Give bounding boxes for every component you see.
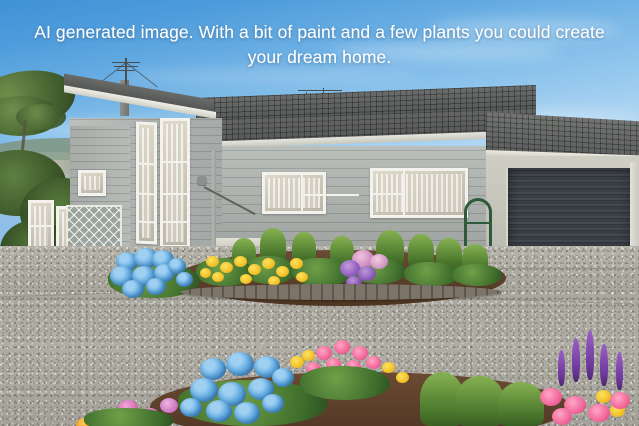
- hydrangea-bloom: [200, 358, 226, 380]
- driveway-seam: [480, 268, 639, 269]
- window-lounge: [262, 172, 326, 214]
- salvia-spike: [616, 352, 623, 390]
- daylily-bloom: [296, 272, 308, 282]
- daylily-bloom: [212, 272, 224, 282]
- pink-flower: [610, 392, 630, 409]
- hydrangea-bloom: [262, 394, 284, 413]
- salvia-spike: [572, 338, 580, 382]
- daylily-bloom: [220, 262, 233, 273]
- hydrangea-bloom: [206, 400, 232, 422]
- hydrangea-bloom: [226, 352, 254, 376]
- pink-flower: [366, 356, 381, 369]
- window-curtain: [84, 176, 100, 190]
- daylily-bloom: [248, 264, 261, 275]
- hydrangea-bloom: [176, 272, 193, 287]
- foliage-clump: [452, 264, 502, 286]
- window-mullion: [163, 193, 187, 195]
- hydrangea-bloom: [122, 280, 144, 298]
- foliage-clump: [300, 366, 390, 400]
- window-mullion: [373, 193, 405, 195]
- garage-door-jamb: [630, 162, 639, 254]
- tv-antenna-element: [117, 70, 135, 71]
- daylily-bloom: [276, 266, 289, 277]
- corner-window-tall-right: [160, 118, 190, 248]
- hydrangea-bloom: [146, 278, 166, 295]
- downpipe: [212, 150, 216, 250]
- hydrangea-bloom: [180, 398, 202, 417]
- window-mullion: [163, 161, 187, 163]
- salvia-spike: [600, 344, 608, 386]
- agapanthus-purple: [340, 260, 360, 277]
- daylily-bloom: [200, 268, 211, 278]
- cloud-wisp: [120, 70, 420, 82]
- pink-flower: [540, 388, 562, 406]
- garden-edging-brick: [180, 284, 502, 300]
- exterior-light: [197, 176, 207, 185]
- window-bedroom: [370, 168, 468, 218]
- yellow-flower: [382, 362, 395, 373]
- daylily-bloom: [290, 258, 303, 269]
- yellow-flower: [596, 390, 611, 403]
- corner-window-tall-left: [136, 121, 157, 244]
- yellow-flower: [302, 350, 315, 361]
- daylily-bloom: [234, 256, 247, 267]
- salvia-spike: [586, 330, 594, 380]
- garage-roller-door: [506, 168, 632, 252]
- yellow-flower: [396, 372, 409, 383]
- cloud-wisp: [430, 18, 620, 40]
- hydrangea-bloom: [272, 368, 294, 387]
- pink-flower: [588, 404, 610, 422]
- cloud-wisp: [330, 44, 560, 60]
- window-curtain: [268, 178, 320, 208]
- salvia-spike: [558, 350, 565, 386]
- window-mullion: [31, 225, 51, 227]
- window-mullion: [301, 194, 359, 196]
- daylily-bloom: [262, 258, 275, 269]
- pink-flower: [552, 408, 572, 425]
- ornamental-grass: [498, 382, 544, 426]
- window-gable-side: [78, 170, 106, 196]
- pink-flower: [334, 340, 350, 354]
- ornamental-grass: [456, 376, 504, 426]
- pink-flower: [160, 398, 178, 413]
- daylily-bloom: [206, 256, 219, 267]
- garden-arch-crossbar: [464, 222, 492, 224]
- daylily-bloom: [240, 274, 252, 284]
- tv-antenna-element: [298, 90, 342, 91]
- window-mullion: [301, 175, 303, 211]
- window-curtain: [166, 124, 184, 242]
- window-mullion: [163, 221, 187, 223]
- garden-arch-trellis: [464, 198, 492, 250]
- property-photo: AI generated image. With a bit of paint …: [0, 0, 639, 426]
- pink-flower: [352, 346, 368, 360]
- hydrangea-bloom: [234, 402, 260, 424]
- window-curtain: [34, 206, 48, 250]
